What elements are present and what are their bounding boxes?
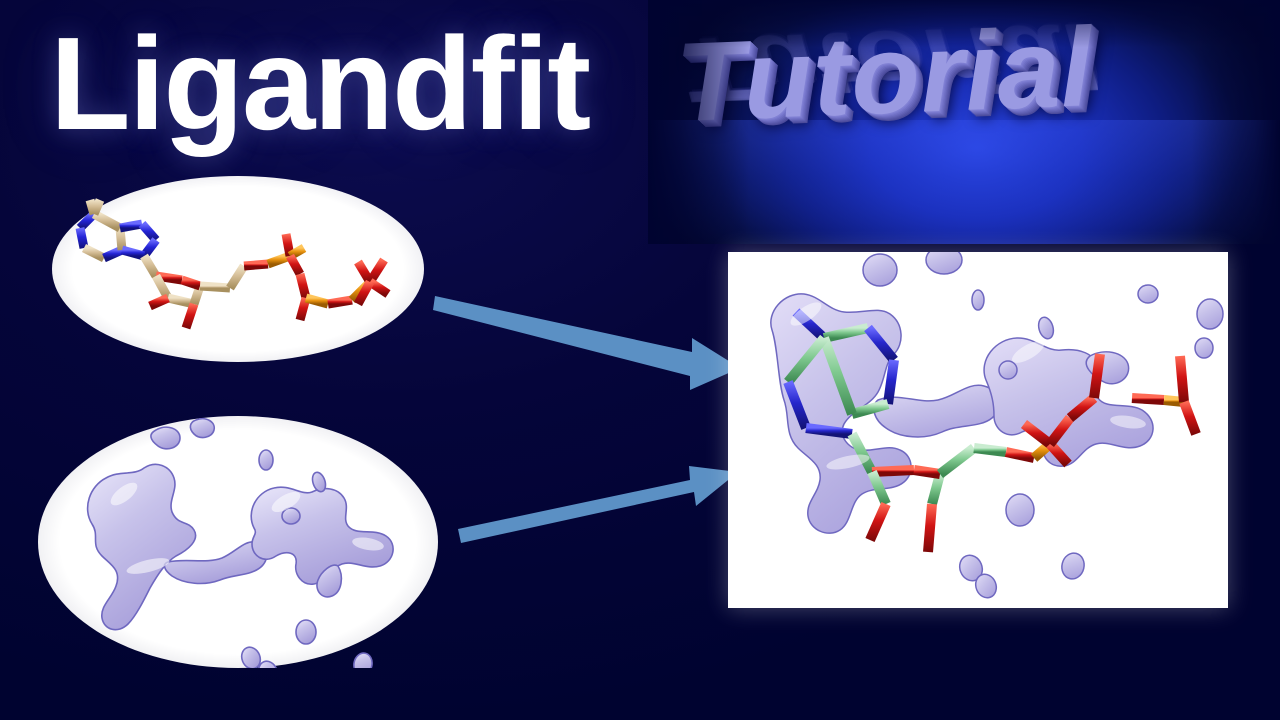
fitted-ligand-in-density	[728, 252, 1228, 608]
tutorial-title-text: Tutorial	[674, 2, 1095, 147]
page-title: Ligandfit	[50, 18, 589, 150]
density-envelope	[771, 252, 1223, 601]
tutorial-banner: Tutorial Tutorial	[648, 0, 1280, 244]
density-map-panel	[38, 416, 438, 668]
ligand-model-panel	[52, 176, 424, 362]
fitted-result-panel	[728, 252, 1228, 608]
ligand-stick-model	[52, 176, 424, 362]
density-isosurface	[38, 416, 438, 668]
slide-canvas: Tutorial Tutorial Ligandfit	[0, 0, 1280, 720]
